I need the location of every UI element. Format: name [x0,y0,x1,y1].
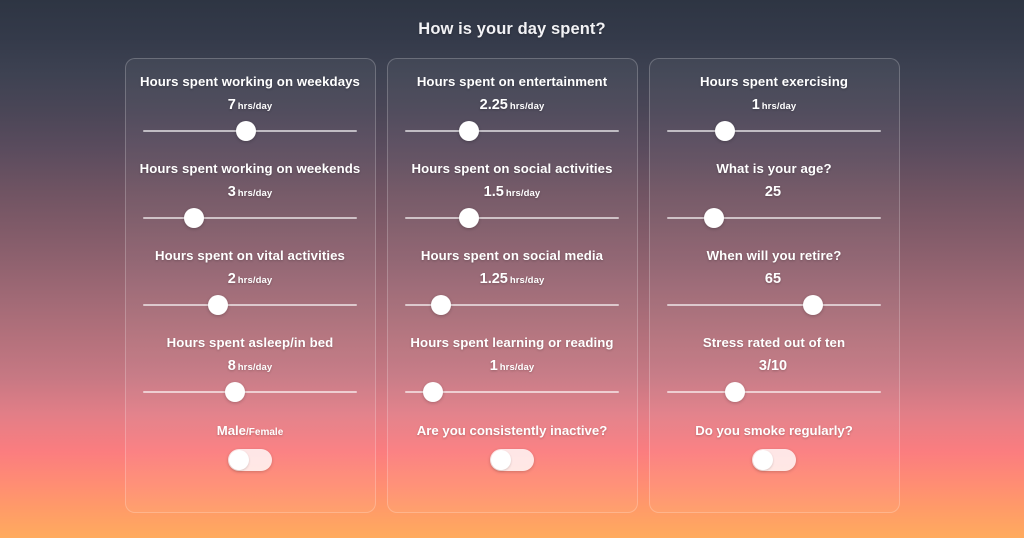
slider-thumb[interactable] [423,382,443,402]
panel-work-and-life: Hours spent working on weekdays7hrs/dayH… [125,58,376,513]
slider-track[interactable] [667,217,881,219]
slider-label: Hours spent learning or reading [410,336,613,351]
slider-value: 3hrs/day [228,185,273,200]
slider-value: 65 [765,272,783,287]
slider-control[interactable] [143,118,357,144]
slider-field: Hours spent on vital activities2hrs/day [140,249,361,318]
slider-field: Hours spent exercising1hrs/day [664,75,885,144]
slider-control[interactable] [143,379,357,405]
slider-value: 1hrs/day [490,359,535,374]
slider-thumb[interactable] [715,121,735,141]
slider-value-unit: hrs/day [506,189,541,199]
toggle-field: Are you consistently inactive? [402,423,623,471]
slider-label: Stress rated out of ten [703,336,845,351]
slider-value-number: 2 [228,272,236,287]
slider-thumb[interactable] [225,382,245,402]
panel-leisure-and-learning: Hours spent on entertainment2.25hrs/dayH… [387,58,638,513]
slider-label: When will you retire? [707,249,842,264]
slider-thumb[interactable] [459,121,479,141]
slider-control[interactable] [667,118,881,144]
slider-field: Hours spent asleep/in bed8hrs/day [140,336,361,405]
slider-value: 7hrs/day [228,98,273,113]
slider-field: Hours spent working on weekends3hrs/day [140,162,361,231]
toggle-label-primary: Male [217,423,246,438]
toggle-label-secondary: /Female [246,427,283,438]
toggle-field: Do you smoke regularly? [664,423,885,471]
slider-label: Hours spent on entertainment [417,75,607,90]
slider-field: Hours spent on social activities1.5hrs/d… [402,162,623,231]
slider-label: Hours spent asleep/in bed [167,336,334,351]
slider-control[interactable] [667,379,881,405]
slider-value: 1hrs/day [752,98,797,113]
slider-value-unit: hrs/day [510,276,545,286]
slider-value-number: 8 [228,359,236,374]
slider-field: What is your age?25 [664,162,885,231]
toggle-switch[interactable] [752,449,796,471]
slider-thumb[interactable] [803,295,823,315]
slider-value: 3/10 [759,359,789,374]
toggle-label: Are you consistently inactive? [417,423,608,438]
slider-control[interactable] [667,205,881,231]
panel-health-and-future: Hours spent exercising1hrs/dayWhat is yo… [649,58,900,513]
app-header: How is your day spent? [0,0,1024,58]
slider-label: Hours spent on social media [421,249,603,264]
slider-control[interactable] [405,205,619,231]
slider-value-unit: hrs/day [238,102,273,112]
slider-value-number: 1 [490,359,498,374]
toggle-label-primary: Do you smoke regularly? [695,423,853,438]
slider-label: Hours spent on social activities [411,162,612,177]
slider-thumb[interactable] [459,208,479,228]
slider-label: Hours spent working on weekends [140,162,361,177]
slider-field: Hours spent working on weekdays7hrs/day [140,75,361,144]
slider-thumb[interactable] [236,121,256,141]
slider-control[interactable] [405,379,619,405]
slider-control[interactable] [143,205,357,231]
slider-track[interactable] [405,130,619,132]
slider-value-unit: hrs/day [500,363,535,373]
slider-field: When will you retire?65 [664,249,885,318]
slider-value-number: 65 [765,272,781,287]
slider-control[interactable] [667,292,881,318]
slider-value-number: 2.25 [480,98,508,113]
slider-value-number: 1.25 [480,272,508,287]
slider-value-number: 1.5 [484,185,504,200]
slider-track[interactable] [143,304,357,306]
slider-control[interactable] [405,118,619,144]
slider-value-number: 3/10 [759,359,787,374]
slider-track[interactable] [143,391,357,393]
slider-value: 2.25hrs/day [480,98,545,113]
slider-value-number: 25 [765,185,781,200]
slider-value-number: 7 [228,98,236,113]
slider-label: Hours spent on vital activities [155,249,345,264]
slider-value-unit: hrs/day [238,276,273,286]
slider-value-unit: hrs/day [510,102,545,112]
slider-field: Hours spent learning or reading1hrs/day [402,336,623,405]
toggle-label-primary: Are you consistently inactive? [417,423,608,438]
slider-value: 1.25hrs/day [480,272,545,287]
slider-thumb[interactable] [208,295,228,315]
page-title: How is your day spent? [418,20,605,39]
slider-label: Hours spent exercising [700,75,848,90]
slider-thumb[interactable] [704,208,724,228]
slider-value: 2hrs/day [228,272,273,287]
toggle-switch[interactable] [490,449,534,471]
slider-control[interactable] [143,292,357,318]
toggle-knob[interactable] [491,450,511,470]
slider-field: Stress rated out of ten3/10 [664,336,885,405]
slider-value: 1.5hrs/day [484,185,541,200]
slider-track[interactable] [667,130,881,132]
slider-value-number: 3 [228,185,236,200]
slider-thumb[interactable] [725,382,745,402]
slider-thumb[interactable] [184,208,204,228]
slider-track[interactable] [667,391,881,393]
slider-value: 8hrs/day [228,359,273,374]
slider-value-number: 1 [752,98,760,113]
slider-label: Hours spent working on weekdays [140,75,360,90]
slider-field: Hours spent on social media1.25hrs/day [402,249,623,318]
slider-value-unit: hrs/day [762,102,797,112]
toggle-knob[interactable] [753,450,773,470]
toggle-label: Do you smoke regularly? [695,423,853,438]
panel-board: Hours spent working on weekdays7hrs/dayH… [0,58,1024,513]
slider-thumb[interactable] [431,295,451,315]
slider-track[interactable] [667,304,881,306]
toggle-label: Male/Female [217,423,284,438]
slider-value-unit: hrs/day [238,189,273,199]
slider-value-unit: hrs/day [238,363,273,373]
slider-track[interactable] [143,217,357,219]
slider-control[interactable] [405,292,619,318]
toggle-switch[interactable] [228,449,272,471]
slider-track[interactable] [405,217,619,219]
toggle-field: Male/Female [140,423,361,471]
slider-value: 25 [765,185,783,200]
toggle-knob[interactable] [229,450,249,470]
slider-label: What is your age? [716,162,831,177]
slider-field: Hours spent on entertainment2.25hrs/day [402,75,623,144]
